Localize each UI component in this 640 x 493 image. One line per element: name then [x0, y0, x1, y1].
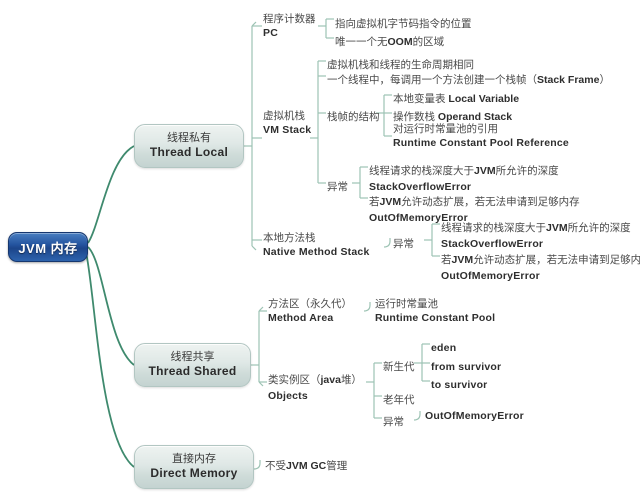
node-objects-en: Objects — [268, 390, 362, 404]
node-vm-oom-a: 若 — [369, 196, 380, 208]
node-objects-outofmemory[interactable]: OutOfMemoryError — [425, 405, 524, 426]
node-frame-structure-cn: 栈帧的结构 — [327, 111, 380, 123]
node-eden-text: eden — [431, 342, 456, 354]
node-to-survivor-text: to survivor — [431, 379, 487, 391]
node-objects-a: 类实例区（ — [268, 374, 321, 386]
node-pc[interactable]: 程序计数器 PC — [263, 13, 316, 40]
branch-direct-memory-cn: 直接内存 — [172, 453, 216, 467]
node-vm-stack-cn: 虚拟机栈 — [263, 110, 311, 124]
node-vm-stack-en: VM Stack — [263, 124, 311, 138]
node-objects-outofmemory-en: OutOfMemoryError — [425, 410, 524, 422]
node-operand-stack-en: Operand Stack — [438, 111, 512, 123]
node-pc-en: PC — [263, 27, 316, 41]
node-nat-so-c: 所允许的深度 — [568, 222, 631, 234]
branch-thread-local[interactable]: 线程私有 Thread Local — [134, 124, 244, 168]
node-nat-so-b: JVM — [546, 222, 568, 234]
node-pc-child-1-text: 指向虚拟机字节码指令的位置 — [335, 18, 472, 30]
node-vm-stack[interactable]: 虚拟机栈 VM Stack — [263, 110, 311, 137]
link-root-thread-local — [88, 146, 134, 243]
node-vm-so-a: 线程请求的栈深度大于 — [369, 165, 474, 177]
link-dm-hook — [254, 460, 260, 469]
node-objects-b: java — [321, 374, 341, 386]
node-vm-oom-c: 允许动态扩展，若无法申请到足够内存 — [401, 196, 580, 208]
root-node[interactable]: JVM 内存 — [8, 232, 88, 262]
root-label: JVM 内存 — [18, 238, 77, 257]
node-vm-oom-b: JVM — [380, 196, 402, 208]
node-native-method-stack-cn: 本地方法栈 — [263, 232, 370, 246]
node-young-generation-cn: 新生代 — [383, 361, 415, 373]
node-vm-so-b: JVM — [474, 165, 496, 177]
node-native-outofmemory[interactable]: 若JVM允许动态扩展，若无法申请到足够内存 OutOfMemoryError — [441, 249, 640, 283]
node-objects-c: 堆） — [341, 374, 362, 386]
link-ma-hook — [364, 302, 370, 311]
node-vm-child-frame-a: 一个线程中，每调用一个方法创建一个栈帧（ — [327, 74, 537, 86]
node-pc-cn: 程序计数器 — [263, 13, 316, 27]
node-vm-stackoverflow[interactable]: 线程请求的栈深度大于JVM所允许的深度 StackOverflowError — [369, 160, 559, 194]
node-runtime-constant-pool-cn: 运行时常量池 — [375, 298, 495, 312]
node-operand-stack-cn: 操作数栈 — [393, 111, 438, 123]
node-vm-exception-cn: 异常 — [327, 181, 348, 193]
node-pc-child-2-c: 的区域 — [413, 36, 445, 48]
link-root-direct-memory — [86, 252, 134, 467]
branch-thread-shared-cn: 线程共享 — [171, 351, 215, 365]
node-old-generation-cn: 老年代 — [383, 394, 415, 406]
node-runtime-constant-pool-en: Runtime Constant Pool — [375, 312, 495, 326]
node-young-generation[interactable]: 新生代 — [383, 356, 415, 377]
node-nat-so-a: 线程请求的栈深度大于 — [441, 222, 546, 234]
node-runtime-constant-pool[interactable]: 运行时常量池 Runtime Constant Pool — [375, 298, 495, 325]
node-vm-exception[interactable]: 异常 — [327, 176, 348, 197]
node-native-exception[interactable]: 异常 — [393, 233, 414, 254]
link-objexc-hook — [414, 411, 420, 420]
link-nat-hook — [384, 238, 390, 247]
node-pc-child-2-a: 唯一一个无 — [335, 36, 388, 48]
node-frame-structure[interactable]: 栈帧的结构 — [327, 106, 380, 127]
node-objects-exception-cn: 异常 — [383, 416, 404, 428]
branch-thread-shared[interactable]: 线程共享 Thread Shared — [134, 343, 251, 387]
node-direct-memory-note[interactable]: 不受JVM GC管理 — [265, 455, 347, 476]
node-to-survivor[interactable]: to survivor — [431, 374, 487, 395]
node-objects[interactable]: 类实例区（java堆） Objects — [268, 369, 362, 403]
node-vm-child-frame-c: ） — [599, 74, 610, 86]
branch-thread-local-cn: 线程私有 — [167, 132, 211, 146]
node-native-method-stack[interactable]: 本地方法栈 Native Method Stack — [263, 232, 370, 259]
node-pc-child-2-b: OOM — [388, 36, 413, 48]
node-native-stackoverflow[interactable]: 线程请求的栈深度大于JVM所允许的深度 StackOverflowError — [441, 217, 631, 251]
node-method-area[interactable]: 方法区（永久代） Method Area — [268, 298, 352, 325]
node-dm-note-c: 管理 — [326, 460, 347, 472]
node-native-method-stack-en: Native Method Stack — [263, 246, 370, 260]
node-vm-child-frame-created[interactable]: 一个线程中，每调用一个方法创建一个栈帧（Stack Frame） — [327, 69, 610, 90]
node-pc-child-2[interactable]: 唯一一个无OOM的区域 — [335, 31, 444, 52]
node-nat-oom-c: 允许动态扩展，若无法申请到足够内存 — [473, 254, 640, 266]
node-native-outofmemory-en: OutOfMemoryError — [441, 270, 640, 284]
mindmap-canvas: JVM 内存 线程私有 Thread Local 线程共享 Thread Sha… — [0, 0, 640, 493]
node-objects-exception[interactable]: 异常 — [383, 411, 404, 432]
node-local-variable-cn: 本地变量表 — [393, 93, 448, 105]
node-nat-oom-b: JVM — [452, 254, 474, 266]
branch-thread-shared-en: Thread Shared — [149, 364, 237, 379]
node-dm-note-b: JVM GC — [286, 460, 326, 472]
branch-direct-memory[interactable]: 直接内存 Direct Memory — [134, 445, 254, 489]
node-local-variable-en: Local Variable — [448, 93, 519, 105]
node-old-generation[interactable]: 老年代 — [383, 389, 415, 410]
node-constant-pool-ref[interactable]: 对运行时常量池的引用 Runtime Constant Pool Referen… — [393, 123, 569, 150]
branch-direct-memory-en: Direct Memory — [150, 466, 237, 481]
node-native-exception-cn: 异常 — [393, 238, 414, 250]
node-nat-oom-a: 若 — [441, 254, 452, 266]
node-method-area-cn: 方法区（永久代） — [268, 298, 352, 312]
node-eden[interactable]: eden — [431, 337, 456, 358]
node-vm-so-c: 所允许的深度 — [496, 165, 559, 177]
node-method-area-en: Method Area — [268, 312, 352, 326]
node-constant-pool-ref-en: Runtime Constant Pool Reference — [393, 137, 569, 151]
node-dm-note-a: 不受 — [265, 460, 286, 472]
link-root-thread-shared — [88, 247, 134, 365]
node-constant-pool-ref-cn: 对运行时常量池的引用 — [393, 123, 569, 137]
node-from-survivor-text: from survivor — [431, 361, 501, 373]
branch-thread-local-en: Thread Local — [150, 145, 228, 160]
node-vm-child-frame-b: Stack Frame — [537, 74, 599, 86]
